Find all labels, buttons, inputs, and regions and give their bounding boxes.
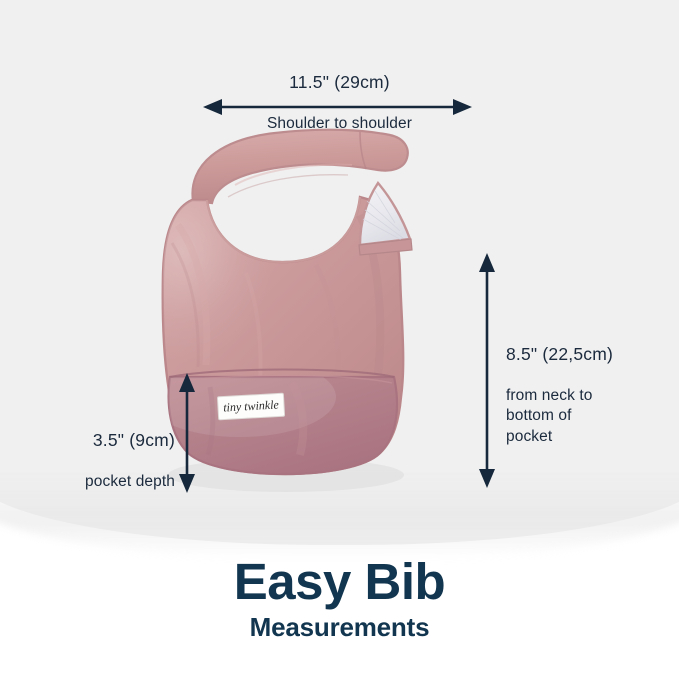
title-block: Easy Bib Measurements: [0, 556, 679, 643]
label-shoulder-width: 11.5" (29cm) Shoulder to shoulder: [0, 50, 679, 155]
pocket-depth-value: 3.5" (9cm): [10, 429, 175, 452]
arrow-pocket-depth: [170, 368, 204, 498]
brand-tag: tiny twinkle: [217, 393, 284, 420]
infographic-canvas: tiny twinkle 11.5" (29cm) Shoulder to sh…: [0, 0, 679, 679]
neck-to-pocket-description: from neck to bottom of pocket: [506, 386, 671, 446]
velcro-closure-patch: [359, 183, 412, 255]
arrow-neck-to-pocket: [472, 248, 502, 493]
pocket-depth-description: pocket depth: [10, 472, 175, 492]
label-neck-to-pocket: 8.5" (22,5cm) from neck to bottom of poc…: [506, 322, 671, 468]
shoulder-width-description: Shoulder to shoulder: [0, 114, 679, 134]
neck-to-pocket-value: 8.5" (22,5cm): [506, 343, 671, 366]
product-subtitle: Measurements: [0, 612, 679, 643]
shoulder-width-value: 11.5" (29cm): [0, 71, 679, 94]
label-pocket-depth: 3.5" (9cm) pocket depth: [10, 408, 175, 513]
product-title: Easy Bib: [0, 556, 679, 609]
